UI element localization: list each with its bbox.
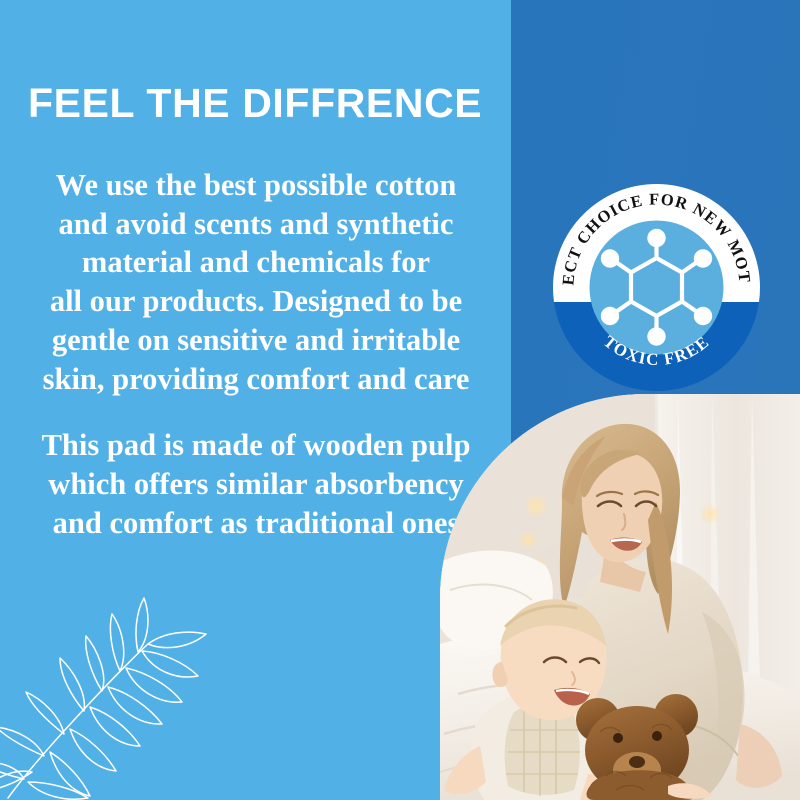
certification-badge: PERFECT CHOICE FOR NEW MOTHERS TOXIC FRE… <box>553 184 760 391</box>
paragraph-two-line: This pad is made of wooden pulp <box>16 426 496 465</box>
body-copy: We use the best possible cotton and avoi… <box>16 166 496 543</box>
paragraph-one-line: gentle on sensitive and irritable <box>16 321 496 360</box>
paragraph-two: This pad is made of wooden pulp which of… <box>16 426 496 542</box>
paragraph-two-line: which offers similar absorbency <box>16 465 496 504</box>
paragraph-one-line: and avoid scents and synthetic <box>16 205 496 244</box>
page-title: FEEL THE DIFFRENCE <box>28 82 498 125</box>
paragraph-one-line: skin, providing comfort and care <box>16 360 496 399</box>
paragraph-one-line: all our products. Designed to be <box>16 282 496 321</box>
paragraph-one-line: We use the best possible cotton <box>16 166 496 205</box>
paragraph-two-line: and comfort as traditional ones <box>16 504 496 543</box>
paragraph-one-line: material and chemicals for <box>16 243 496 282</box>
promotional-poster: FEEL THE DIFFRENCE We use the best possi… <box>0 0 800 800</box>
paragraph-one: We use the best possible cotton and avoi… <box>16 166 496 398</box>
